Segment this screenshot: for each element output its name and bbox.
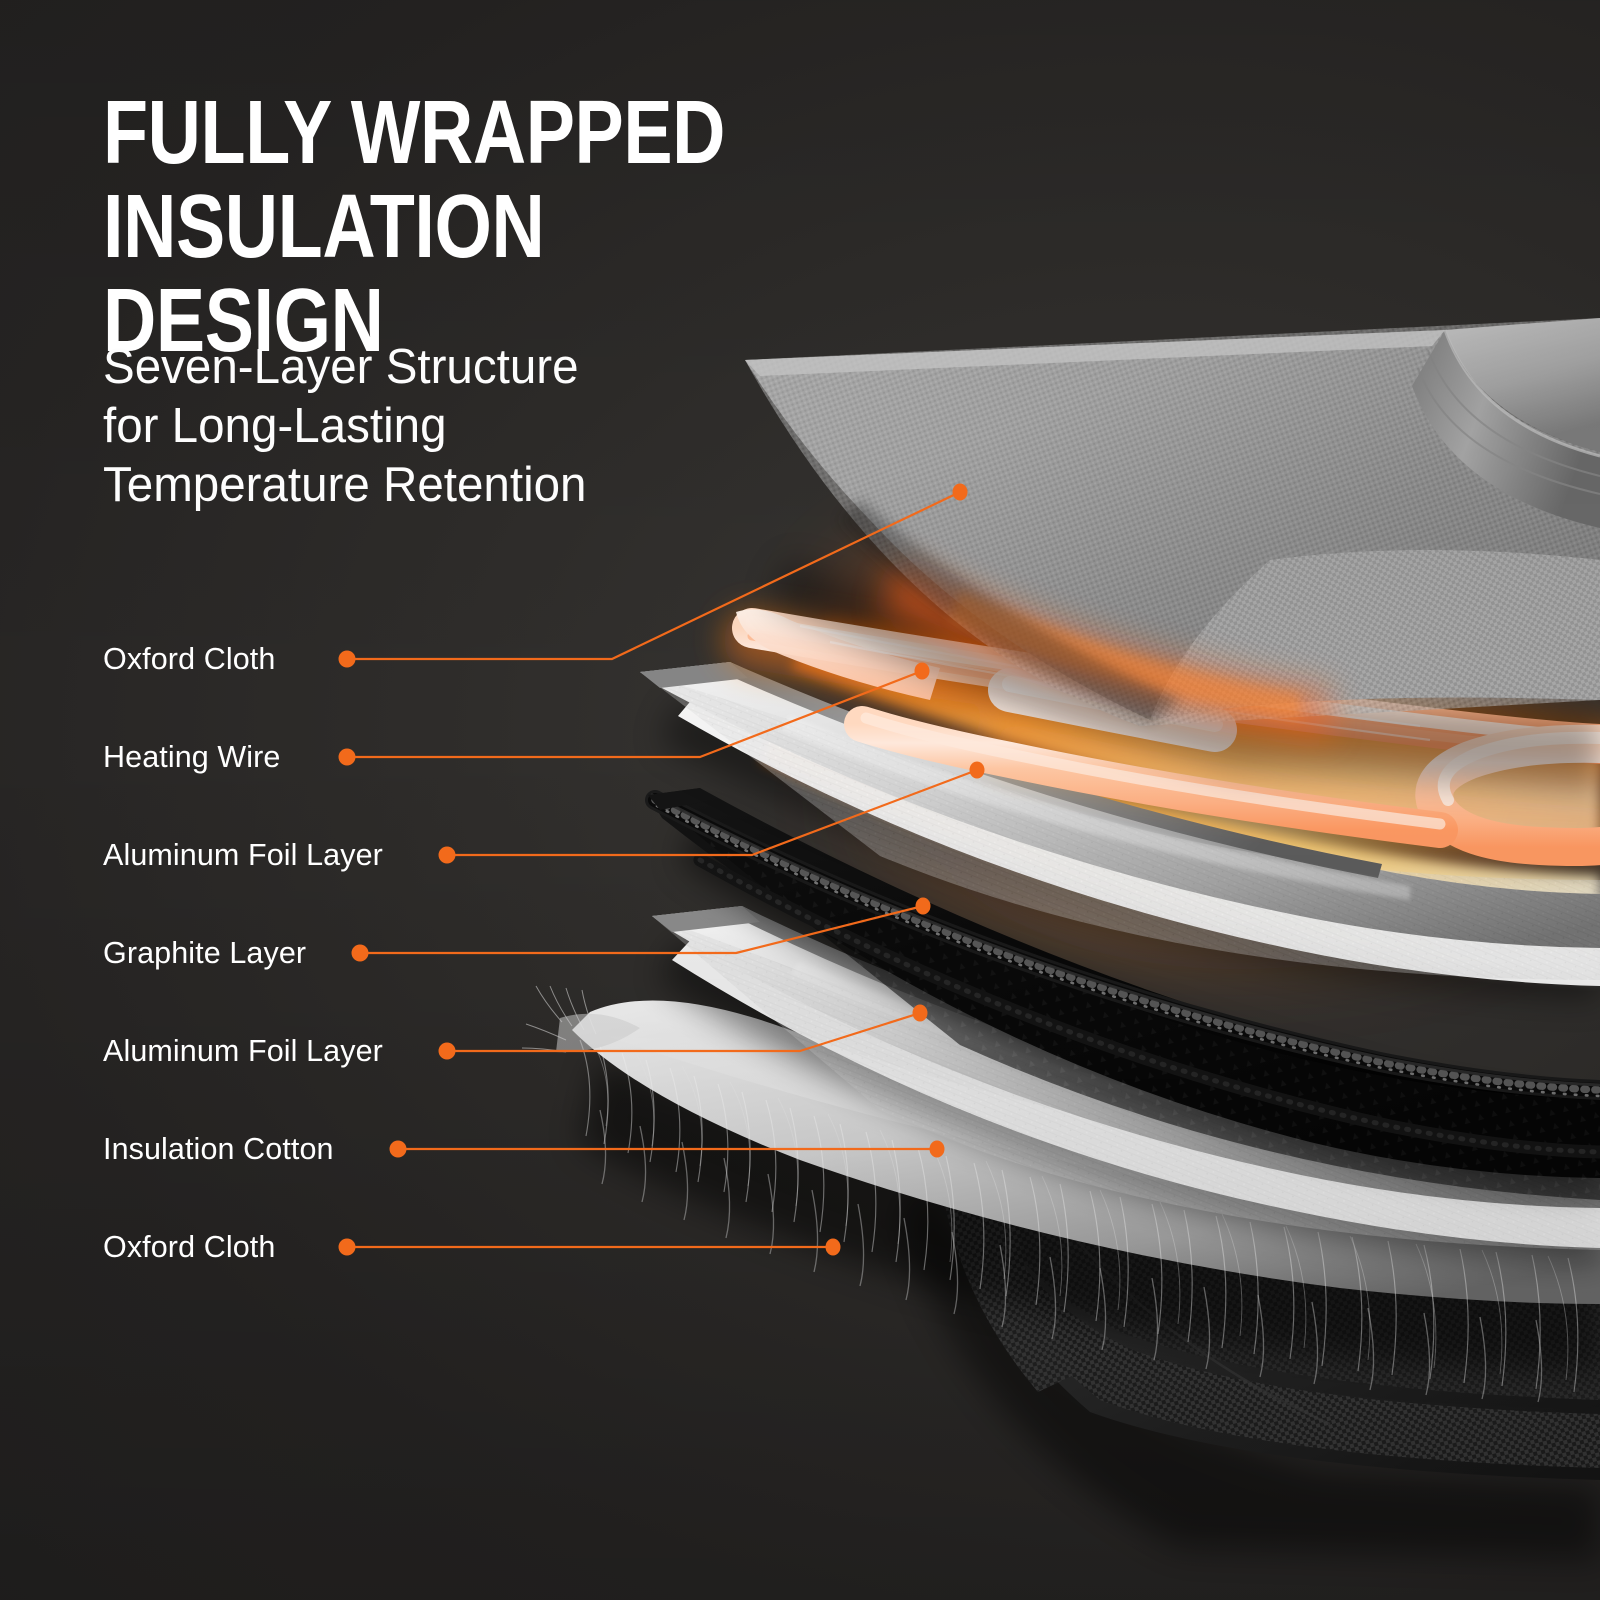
- callout-label-7: Oxford Cloth: [103, 1232, 275, 1262]
- callout-label-6: Insulation Cotton: [103, 1134, 334, 1164]
- callout-label-2: Heating Wire: [103, 742, 280, 772]
- page-title: FULLY WRAPPED INSULATION DESIGN: [103, 86, 1128, 368]
- text-layer: FULLY WRAPPED INSULATION DESIGN Seven-La…: [0, 0, 1600, 1600]
- callout-label-1: Oxford Cloth: [103, 644, 275, 674]
- callout-label-3: Aluminum Foil Layer: [103, 840, 383, 870]
- callout-label-5: Aluminum Foil Layer: [103, 1036, 383, 1066]
- infographic-root: FULLY WRAPPED INSULATION DESIGN Seven-La…: [0, 0, 1600, 1600]
- callout-label-4: Graphite Layer: [103, 938, 306, 968]
- page-subtitle: Seven-Layer Structure for Long-Lasting T…: [103, 338, 840, 515]
